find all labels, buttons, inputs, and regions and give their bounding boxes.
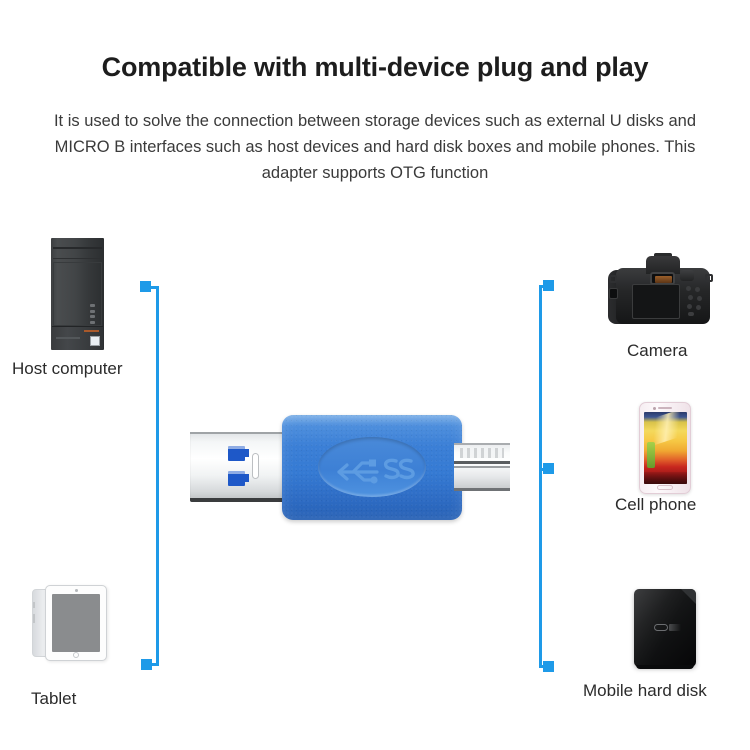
left-bracket-spine bbox=[156, 286, 159, 666]
phone-front-camera-icon bbox=[653, 407, 656, 410]
phone-home-button bbox=[657, 485, 673, 490]
camera-control-buttons bbox=[686, 286, 706, 318]
camera-strap-lug-left bbox=[609, 275, 617, 283]
page-title: Compatible with multi-device plug and pl… bbox=[0, 52, 750, 83]
tablet-icon bbox=[32, 585, 108, 661]
smartphone-icon bbox=[639, 402, 691, 494]
external-hard-drive-icon bbox=[634, 589, 696, 667]
right-bracket-node-cell-phone bbox=[543, 463, 554, 474]
left-bracket-node-host-computer bbox=[140, 281, 151, 292]
tower-top-seam-secondary bbox=[53, 258, 102, 259]
label-cell-phone: Cell phone bbox=[615, 495, 696, 515]
hard-drive-base-edge bbox=[636, 665, 694, 669]
product-infographic: Compatible with multi-device plug and pl… bbox=[0, 0, 750, 750]
label-tablet: Tablet bbox=[31, 689, 76, 709]
tablet-front-unit bbox=[45, 585, 107, 661]
adapter-blue-shell bbox=[282, 415, 462, 520]
tablet-home-button bbox=[73, 652, 79, 658]
usb-a-blue-insert-top bbox=[228, 446, 245, 461]
left-bracket-node-tablet bbox=[141, 659, 152, 670]
hard-drive-brand-mark bbox=[654, 624, 668, 631]
tower-indicator-leds bbox=[90, 304, 96, 326]
usb-a-alignment-slot bbox=[252, 453, 259, 479]
phone-wallpaper-accent bbox=[647, 442, 655, 468]
hard-drive-brand-text bbox=[669, 624, 681, 631]
right-bracket-node-camera bbox=[543, 280, 554, 291]
tower-power-button bbox=[90, 336, 100, 346]
usb-a-top-edge bbox=[190, 432, 290, 434]
desktop-tower-icon bbox=[51, 238, 104, 350]
micro-b-seam-upper bbox=[454, 461, 510, 464]
right-bracket-node-mobile-hard-disk bbox=[543, 661, 554, 672]
micro-b-contact-pins bbox=[460, 448, 504, 458]
camera-viewfinder-glass bbox=[655, 276, 672, 283]
micro-b-seam-middle bbox=[454, 466, 510, 468]
usb-otg-adapter-product-image bbox=[190, 415, 510, 520]
label-mobile-hard-disk: Mobile hard disk bbox=[583, 681, 707, 701]
phone-wallpaper-shadow bbox=[644, 472, 687, 484]
tablet-volume-button bbox=[33, 602, 35, 608]
tablet-power-button bbox=[33, 614, 35, 623]
tablet-screen bbox=[52, 594, 100, 652]
usb-a-blue-insert-bottom bbox=[228, 471, 245, 486]
usb-superspeed-trident-logo bbox=[318, 437, 426, 497]
camera-lcd-screen bbox=[632, 284, 680, 319]
tower-accent-stripe bbox=[84, 330, 99, 332]
micro-b-seam-top bbox=[454, 443, 510, 445]
page-subtitle: It is used to solve the connection betwe… bbox=[35, 108, 715, 186]
camera-mode-dial bbox=[680, 270, 694, 281]
usb-a-male-connector bbox=[190, 432, 290, 502]
camera-usb-port bbox=[609, 288, 618, 299]
right-bracket-spine bbox=[539, 285, 542, 668]
label-camera: Camera bbox=[627, 341, 687, 361]
micro-b-seam-bottom bbox=[454, 488, 510, 491]
phone-screen bbox=[644, 412, 687, 484]
tower-drive-slot bbox=[56, 337, 80, 339]
label-host-computer: Host computer bbox=[12, 359, 123, 379]
usb-a-bottom-edge bbox=[190, 498, 290, 502]
tower-top-seam bbox=[53, 247, 102, 249]
phone-body bbox=[639, 402, 691, 494]
dslr-camera-icon bbox=[608, 250, 718, 328]
tablet-front-camera-icon bbox=[75, 589, 78, 592]
phone-earpiece bbox=[658, 407, 672, 409]
camera-strap-lug-right bbox=[705, 274, 713, 282]
